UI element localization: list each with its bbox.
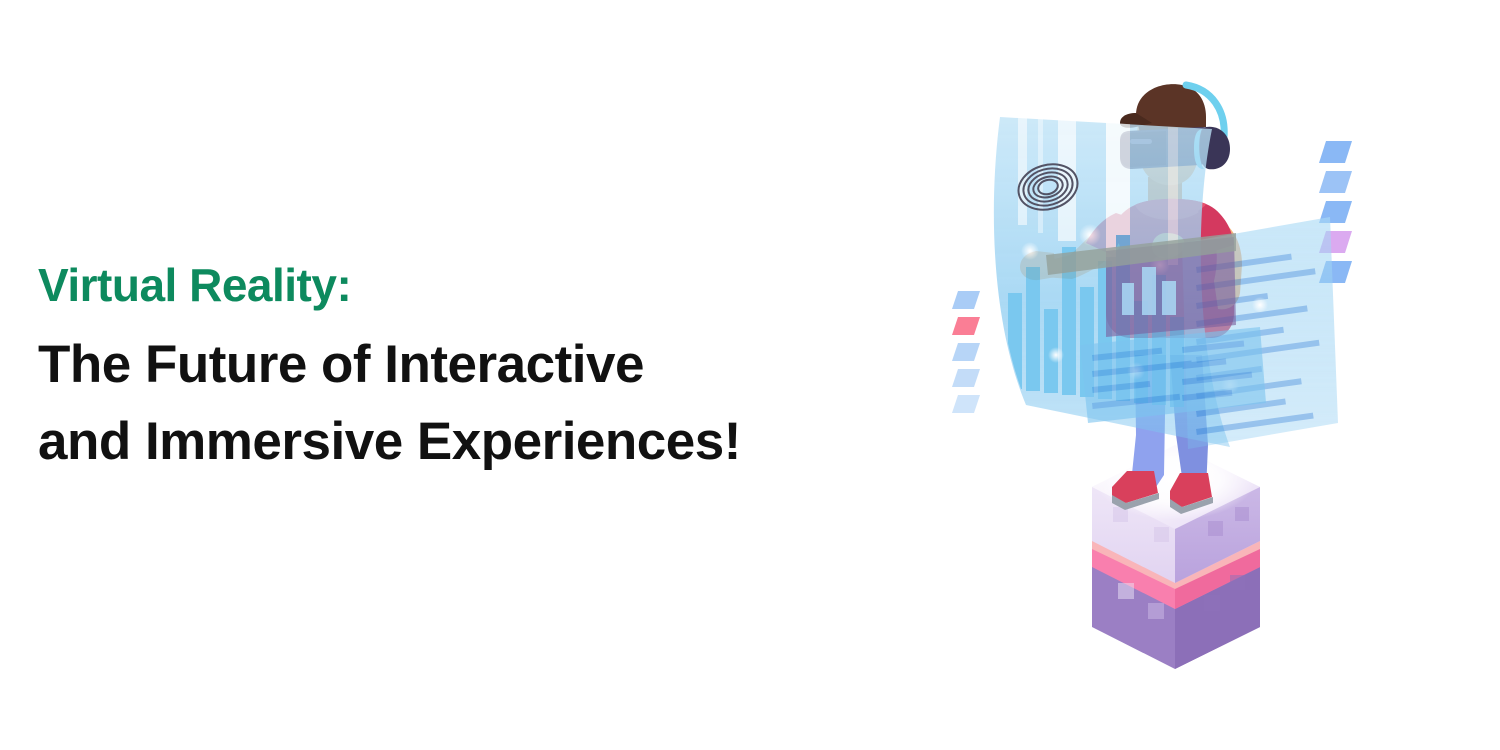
vr-user-illustration xyxy=(930,55,1380,715)
illustration-svg xyxy=(930,55,1380,715)
page-title-line1: The Future of Interactive xyxy=(38,338,898,391)
left-accent-bars xyxy=(952,291,980,413)
vr-banner: Virtual Reality: The Future of Interacti… xyxy=(0,0,1500,750)
headline-block: Virtual Reality: The Future of Interacti… xyxy=(38,262,898,468)
eyebrow-text: Virtual Reality: xyxy=(38,262,898,308)
page-title-line2: and Immersive Experiences! xyxy=(38,415,898,468)
isometric-pedestal xyxy=(1092,440,1260,669)
